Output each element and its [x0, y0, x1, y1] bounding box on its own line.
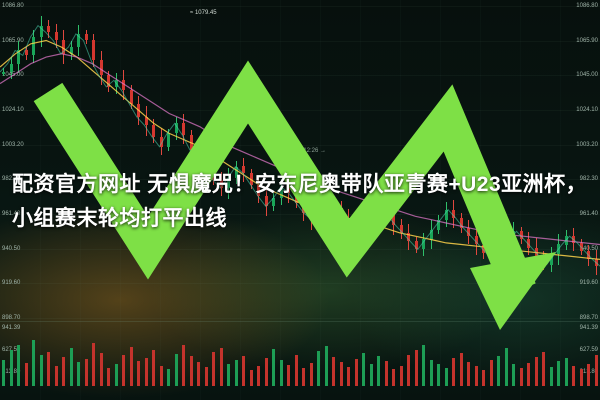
- volume-bar: [370, 364, 373, 386]
- volume-bar: [430, 360, 433, 386]
- volume-bar: [422, 345, 425, 386]
- candlestick: [32, 30, 35, 63]
- candlestick: [175, 117, 178, 140]
- candlestick: [122, 70, 125, 100]
- volume-bar: [152, 350, 155, 386]
- volume-bar: [355, 359, 358, 386]
- volume-bar: [137, 361, 140, 386]
- candlestick: [152, 119, 155, 143]
- candlestick: [587, 245, 590, 267]
- volume-bar: [437, 364, 440, 386]
- candlestick: [580, 239, 583, 255]
- volume-bar: [220, 348, 223, 386]
- volume-bar: [347, 367, 350, 386]
- candlestick: [10, 57, 13, 79]
- volume-bar: [145, 358, 148, 386]
- candlestick: [55, 24, 58, 48]
- volume-bar: [92, 343, 95, 386]
- volume-bar: [287, 365, 290, 386]
- volume-bar: [445, 368, 448, 386]
- candlestick: [107, 71, 110, 92]
- volume-bar: [482, 370, 485, 386]
- candlestick: [47, 20, 50, 37]
- candlestick: [62, 30, 65, 65]
- candlestick: [190, 130, 193, 154]
- volume-bar: [85, 359, 88, 386]
- candlestick: [115, 73, 118, 94]
- volume-bar: [415, 350, 418, 386]
- candlestick: [137, 96, 140, 125]
- headline-text: 配资官方网址 无惧魔咒！安东尼奥带队亚青赛+U23亚洲杯，小组赛末轮均打平出线: [12, 168, 588, 236]
- volume-bar: [182, 345, 185, 386]
- screenshot-root: 1086.801065.901045.001024.101003.20982.3…: [0, 0, 600, 400]
- volume-bar: [385, 361, 388, 386]
- candlestick: [415, 237, 418, 253]
- volume-bar: [580, 369, 583, 386]
- volume-bar: [332, 357, 335, 386]
- candlestick: [160, 128, 163, 155]
- candlestick: [145, 106, 148, 136]
- volume-bar: [467, 362, 470, 386]
- candlestick: [535, 238, 538, 266]
- volume-bar: [520, 368, 523, 386]
- candlestick: [595, 250, 598, 275]
- candlestick: [85, 30, 88, 45]
- volume-bar: [55, 366, 58, 386]
- candlestick: [497, 247, 500, 265]
- volume-bar: [2, 360, 5, 386]
- volume-bar: [512, 364, 515, 386]
- volume-bar: [475, 366, 478, 386]
- volume-bar: [122, 355, 125, 386]
- volume-bar: [250, 370, 253, 386]
- volume-bar: [25, 363, 28, 386]
- candlestick: [167, 129, 170, 150]
- volume-bar: [572, 366, 575, 386]
- candlestick: [550, 247, 553, 273]
- volume-bar: [452, 358, 455, 386]
- volume-tick-left: 941.39: [2, 324, 20, 332]
- candlestick: [40, 16, 43, 48]
- candlestick: [2, 68, 5, 76]
- candlestick: [542, 251, 545, 270]
- volume-bar: [460, 353, 463, 387]
- candlestick: [197, 143, 200, 168]
- candlestick: [505, 235, 508, 258]
- volume-bar: [242, 356, 245, 386]
- volume-bar: [235, 360, 238, 386]
- candlestick: [92, 34, 95, 67]
- candlestick: [422, 233, 425, 256]
- volume-tick-right: 627.59: [580, 346, 598, 354]
- volume-bar: [362, 353, 365, 386]
- volume-bar: [212, 352, 215, 386]
- candlestick: [557, 234, 560, 265]
- volume-bar: [317, 351, 320, 386]
- volume-bar: [377, 356, 380, 386]
- volume-bar: [40, 355, 43, 387]
- volume-bar: [595, 355, 598, 387]
- volume-bar: [535, 357, 538, 386]
- candlestick: [100, 51, 103, 85]
- volume-bar: [70, 348, 73, 386]
- volume-bar: [197, 362, 200, 386]
- volume-bar: [542, 352, 545, 386]
- volume-bar: [227, 364, 230, 386]
- volume-bar: [310, 363, 313, 386]
- candlestick: [130, 85, 133, 109]
- volume-bar: [47, 352, 50, 386]
- volume-bar: [257, 366, 260, 386]
- volume-bar: [167, 369, 170, 386]
- volume-tick-right: 941.39: [580, 324, 598, 332]
- volume-bar: [175, 354, 178, 386]
- candlestick: [70, 41, 73, 60]
- candlestick: [25, 46, 28, 60]
- volume-bar: [392, 369, 395, 386]
- volume-bar: [32, 340, 35, 386]
- candlestick: [17, 41, 20, 73]
- volume-bar: [205, 367, 208, 386]
- volume-bar: [160, 366, 163, 386]
- volume-bar: [17, 345, 20, 386]
- volume-bar: [505, 348, 508, 386]
- volume-bar: [490, 360, 493, 386]
- volume-bar: [100, 353, 103, 386]
- volume-bar: [325, 346, 328, 386]
- volume-bar: [265, 358, 268, 386]
- volume-bar: [280, 360, 283, 386]
- candlestick: [482, 239, 485, 259]
- volume-panel: 941.39627.59313.80 941.39627.59313.80: [0, 321, 600, 400]
- volume-bar: [557, 361, 560, 386]
- candlestick: [77, 25, 80, 56]
- volume-bar: [302, 368, 305, 386]
- volume-bar: [295, 355, 298, 387]
- volume-bar: [62, 357, 65, 386]
- volume-bar: [527, 363, 530, 386]
- volume-bar: [77, 362, 80, 386]
- volume-bar: [565, 358, 568, 386]
- volume-bar: [550, 367, 553, 386]
- volume-bar: [400, 366, 403, 386]
- candlestick: [490, 244, 493, 270]
- volume-bar: [497, 356, 500, 386]
- volume-bar: [587, 364, 590, 386]
- volume-bar: [340, 362, 343, 386]
- volume-bar: [130, 347, 133, 386]
- volume-bar: [407, 355, 410, 386]
- volume-bar: [115, 364, 118, 386]
- volume-bar: [10, 350, 13, 386]
- volume-bar: [190, 356, 193, 386]
- candlestick: [182, 114, 185, 144]
- volume-bar: [272, 349, 275, 387]
- volume-bar: [107, 368, 110, 386]
